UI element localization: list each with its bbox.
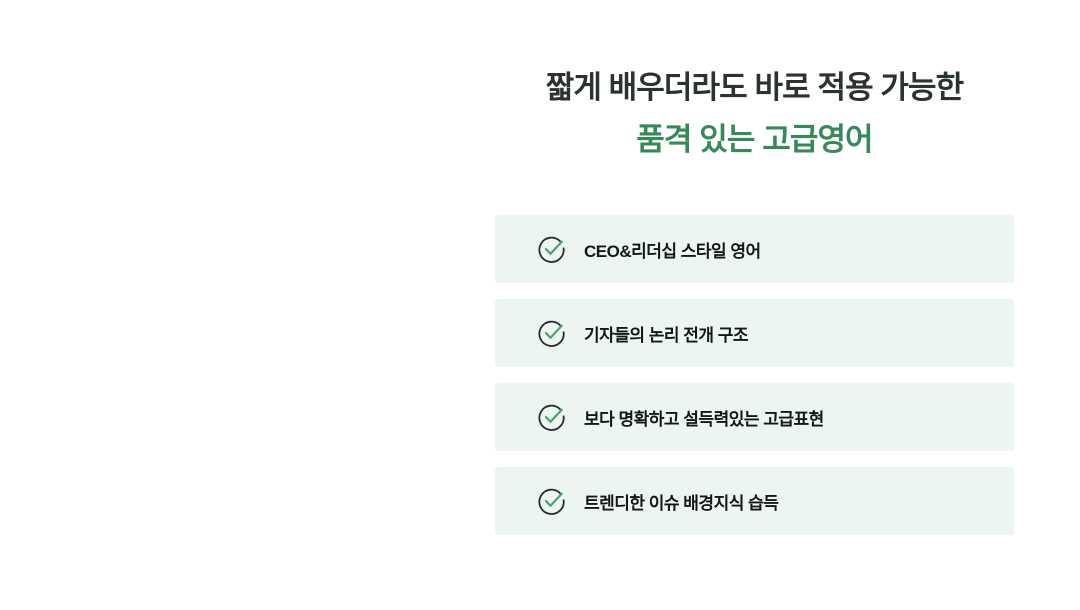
list-item: 기자들의 논리 전개 구조 bbox=[495, 299, 1014, 367]
check-circle-icon bbox=[537, 486, 567, 516]
headline-line-2: 품격 있는 고급영어 bbox=[492, 114, 1017, 166]
promo-slide: 짧게 배우더라도 바로 적용 가능한 품격 있는 고급영어 CEO&리더십 스타… bbox=[0, 0, 1080, 610]
check-circle-icon bbox=[537, 318, 567, 348]
list-item-label: CEO&리더십 스타일 영어 bbox=[584, 237, 1014, 262]
list-item: 트렌디한 이슈 배경지식 습득 bbox=[495, 467, 1014, 535]
content-column: 짧게 배우더라도 바로 적용 가능한 품격 있는 고급영어 CEO&리더십 스타… bbox=[495, 0, 1014, 610]
check-circle-icon bbox=[537, 234, 567, 264]
list-item: 보다 명확하고 설득력있는 고급표현 bbox=[495, 383, 1014, 451]
page-title: 짧게 배우더라도 바로 적용 가능한 품격 있는 고급영어 bbox=[492, 62, 1017, 166]
check-circle-icon bbox=[537, 402, 567, 432]
list-item-label: 기자들의 논리 전개 구조 bbox=[584, 321, 1014, 346]
list-item: CEO&리더십 스타일 영어 bbox=[495, 215, 1014, 283]
headline-line-1: 짧게 배우더라도 바로 적용 가능한 bbox=[492, 62, 1017, 114]
list-item-label: 보다 명확하고 설득력있는 고급표현 bbox=[584, 405, 1014, 430]
feature-list: CEO&리더십 스타일 영어 기자들의 논리 전개 구조 보다 명확하고 설득력… bbox=[495, 215, 1014, 535]
list-item-label: 트렌디한 이슈 배경지식 습득 bbox=[584, 489, 1014, 514]
